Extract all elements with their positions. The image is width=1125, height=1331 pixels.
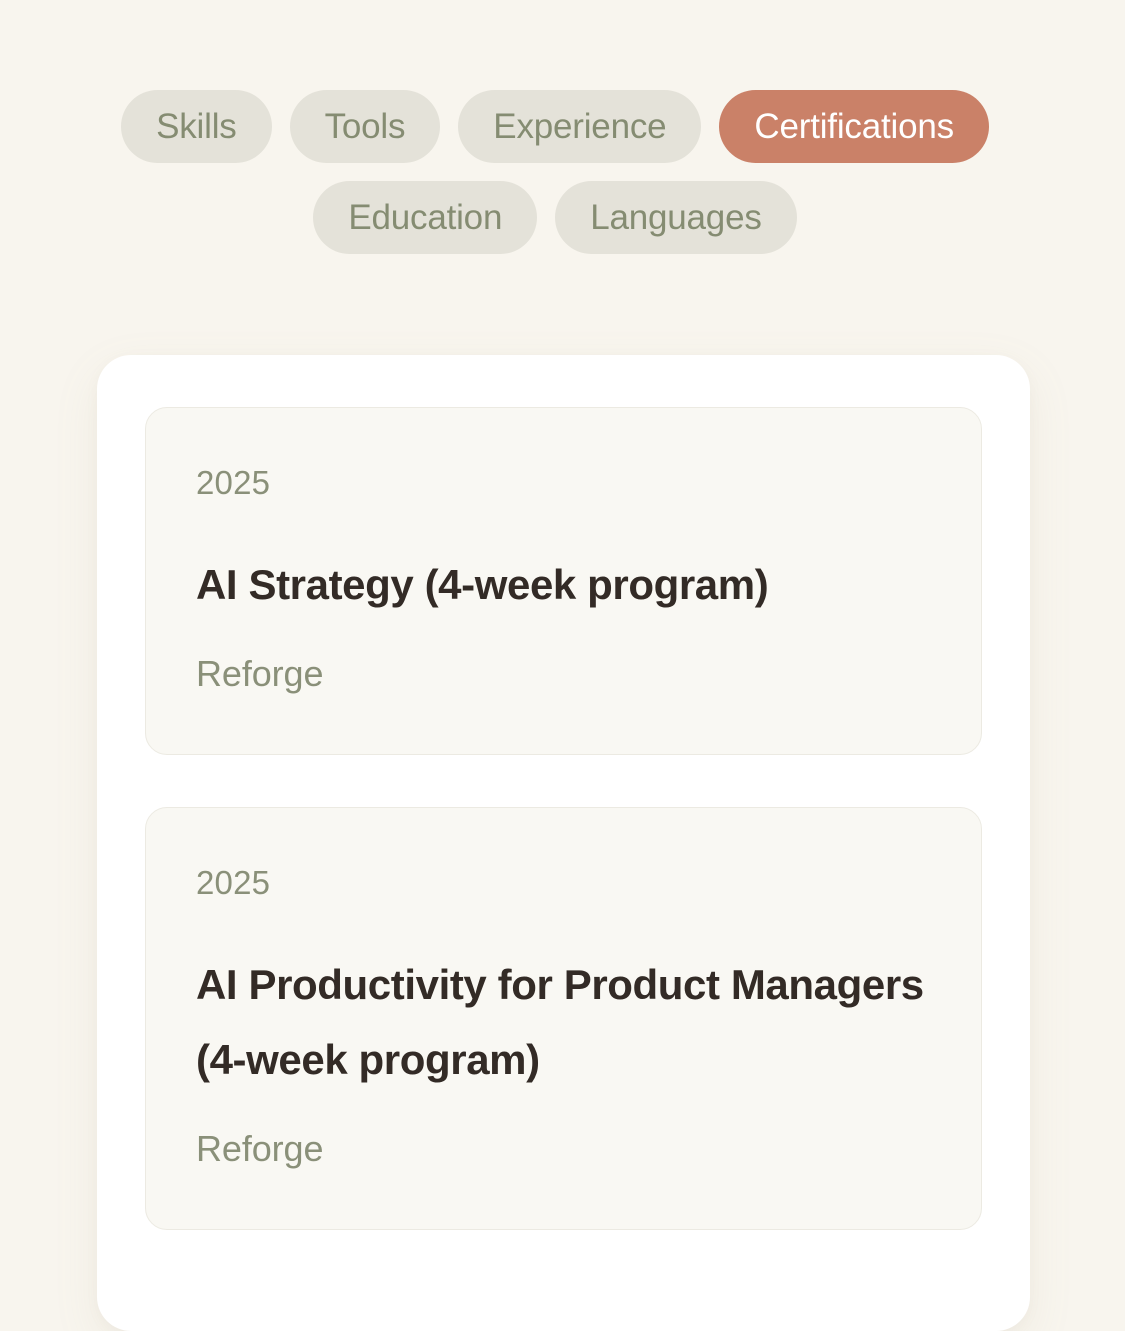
- certification-year: 2025: [196, 466, 931, 499]
- filter-pill-tools[interactable]: Tools: [290, 90, 441, 163]
- certification-issuer: Reforge: [196, 656, 931, 692]
- certification-card[interactable]: 2025 AI Productivity for Product Manager…: [145, 807, 982, 1230]
- certification-year: 2025: [196, 866, 931, 899]
- resume-section-filters: Skills Tools Experience Certifications E…: [97, 90, 1013, 254]
- filter-pill-certifications[interactable]: Certifications: [719, 90, 989, 163]
- filter-pill-experience[interactable]: Experience: [458, 90, 701, 163]
- certification-card[interactable]: 2025 AI Strategy (4-week program) Reforg…: [145, 407, 982, 755]
- certification-issuer: Reforge: [196, 1131, 931, 1167]
- certifications-page: Skills Tools Experience Certifications E…: [0, 0, 1125, 1331]
- certification-title: AI Productivity for Product Managers (4-…: [196, 947, 931, 1097]
- certification-title: AI Strategy (4-week program): [196, 547, 931, 622]
- certifications-panel: 2025 AI Strategy (4-week program) Reforg…: [97, 355, 1030, 1331]
- filter-pill-skills[interactable]: Skills: [121, 90, 271, 163]
- filter-pill-languages[interactable]: Languages: [555, 181, 796, 254]
- filter-pill-education[interactable]: Education: [313, 181, 537, 254]
